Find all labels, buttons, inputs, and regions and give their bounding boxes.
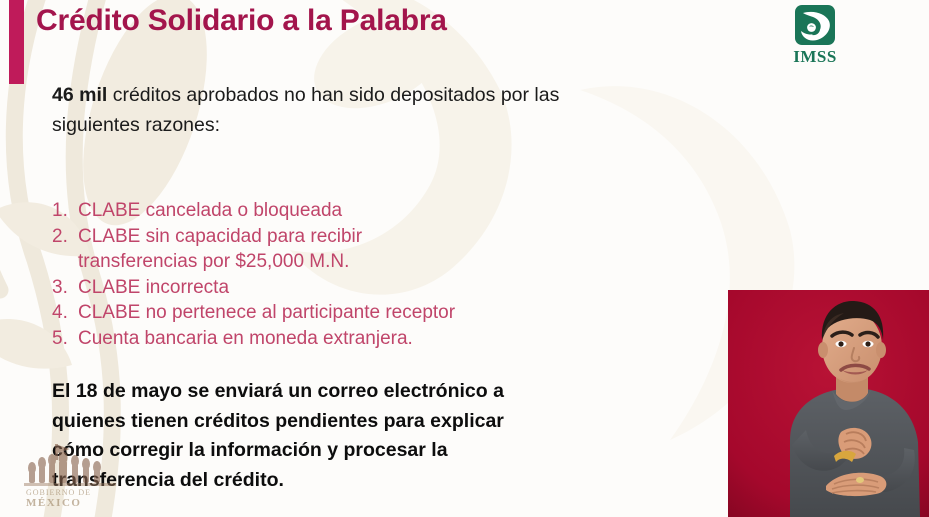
- list-item: 2. CLABE sin capacidad para recibir: [52, 224, 672, 250]
- page-title: Crédito Solidario a la Palabra: [36, 4, 447, 38]
- list-item-number: 2.: [52, 224, 78, 250]
- interpreter-frame: [728, 290, 929, 517]
- list-item-label: CLABE cancelada o bloqueada: [78, 198, 672, 224]
- svg-text:GOBIERNO DE: GOBIERNO DE: [26, 488, 91, 497]
- list-item-number: 4.: [52, 300, 78, 326]
- intro-bold-lead: 46 mil: [52, 84, 107, 106]
- reasons-list: 1. CLABE cancelada o bloqueada 2. CLABE …: [52, 198, 672, 351]
- intro-rest: créditos aprobados no han sido depositad…: [107, 84, 559, 106]
- list-item-continuation: transferencias por $25,000 M.N.: [78, 249, 672, 275]
- list-item: 5. Cuenta bancaria en moneda extranjera.: [52, 326, 672, 352]
- closing-line-4: transferencia del crédito.: [52, 466, 642, 496]
- closing-paragraph: El 18 de mayo se enviará un correo elect…: [52, 377, 642, 495]
- list-item-number: 1.: [52, 198, 78, 224]
- list-item-label: CLABE sin capacidad para recibir: [78, 224, 672, 250]
- svg-text:MÉXICO: MÉXICO: [26, 497, 81, 509]
- list-item-label: CLABE no pertenece al participante recep…: [78, 300, 672, 326]
- title-accent-bar: [9, 0, 24, 84]
- closing-line-3: cómo corregir la información y procesar …: [52, 436, 642, 466]
- closing-line-1: El 18 de mayo se enviará un correo elect…: [52, 377, 642, 407]
- list-item-number: 5.: [52, 326, 78, 352]
- sign-language-interpreter-video[interactable]: [728, 290, 929, 517]
- imss-logo: IMSS: [784, 4, 846, 66]
- imss-emblem-icon: [791, 4, 839, 48]
- list-item: 1. CLABE cancelada o bloqueada: [52, 198, 672, 224]
- list-item-number: 3.: [52, 275, 78, 301]
- list-item-label: Cuenta bancaria en moneda extranjera.: [78, 326, 672, 352]
- gobierno-de-mexico-watermark: GOBIERNO DE MÉXICO: [18, 438, 126, 516]
- list-item: 3. CLABE incorrecta: [52, 275, 672, 301]
- list-item: 4. CLABE no pertenece al participante re…: [52, 300, 672, 326]
- presentation-slide: Crédito Solidario a la Palabra IMSS 46 m…: [0, 0, 929, 517]
- intro-paragraph-line2: siguientes razones:: [52, 110, 220, 140]
- closing-line-2: quienes tienen créditos pendientes para …: [52, 407, 642, 437]
- intro-paragraph: 46 mil créditos aprobados no han sido de…: [52, 80, 792, 110]
- list-item-label: CLABE incorrecta: [78, 275, 672, 301]
- imss-wordmark: IMSS: [784, 48, 846, 65]
